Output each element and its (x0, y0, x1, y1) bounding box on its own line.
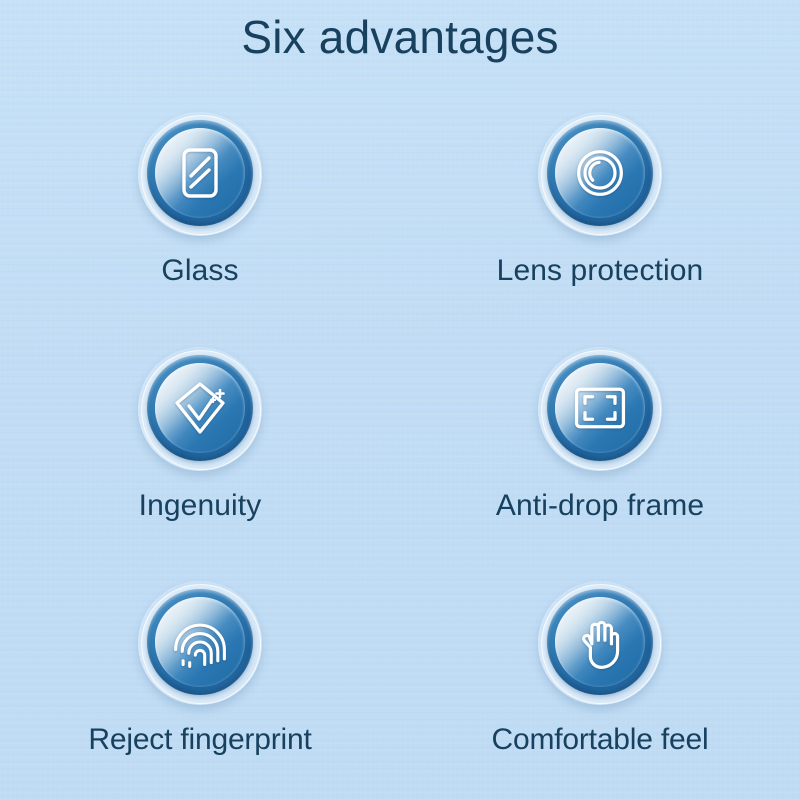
feature-label: Glass (161, 254, 238, 288)
feature-cell-glass[interactable]: Glass (0, 96, 400, 331)
badge-gloss (555, 597, 645, 687)
badge-gloss (155, 597, 245, 687)
feature-label: Reject fingerprint (88, 723, 311, 757)
feature-badge (138, 581, 262, 705)
badge-disc (155, 597, 245, 687)
badge-gloss (155, 128, 245, 218)
feature-label: Lens protection (497, 254, 704, 288)
feature-badge (138, 112, 262, 236)
badge-gloss (555, 363, 645, 453)
feature-poster: Six advantages Glass (0, 0, 800, 800)
feature-badge (538, 347, 662, 471)
badge-disc (155, 128, 245, 218)
badge-gloss (555, 128, 645, 218)
badge-disc (555, 363, 645, 453)
feature-cell-lens-protection[interactable]: Lens protection (400, 96, 800, 331)
features-grid: Glass Lens protection (0, 96, 800, 800)
feature-cell-ingenuity[interactable]: Ingenuity (0, 331, 400, 566)
feature-label: Ingenuity (139, 489, 262, 523)
feature-badge (138, 347, 262, 471)
feature-badge (538, 581, 662, 705)
page-title: Six advantages (0, 6, 800, 68)
feature-cell-reject-fingerprint[interactable]: Reject fingerprint (0, 565, 400, 800)
badge-gloss (155, 363, 245, 453)
feature-label: Comfortable feel (492, 723, 709, 757)
badge-disc (555, 597, 645, 687)
badge-disc (555, 128, 645, 218)
feature-badge (538, 112, 662, 236)
badge-disc (155, 363, 245, 453)
feature-cell-comfortable-feel[interactable]: Comfortable feel (400, 565, 800, 800)
feature-label: Anti-drop frame (496, 489, 704, 523)
feature-cell-anti-drop-frame[interactable]: Anti-drop frame (400, 331, 800, 566)
